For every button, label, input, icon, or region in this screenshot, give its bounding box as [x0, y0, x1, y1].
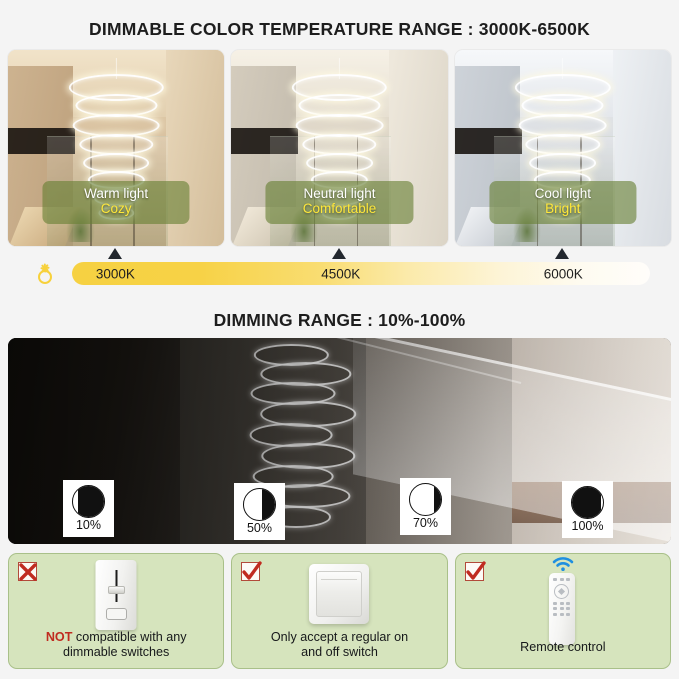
feature-caption: Remote control: [456, 640, 670, 656]
remote-button-row: [549, 613, 575, 616]
scale-tick-3000k: 3000K: [96, 266, 135, 281]
cross-icon: [18, 562, 37, 581]
chandelier-ring: [302, 134, 376, 156]
dimming-badge-100: 100%: [562, 481, 613, 538]
cct-label-secondary: Cozy: [43, 201, 190, 216]
remote-button: [566, 613, 570, 616]
feature-caption-rest: Remote control: [520, 640, 605, 654]
dial-fill: [262, 488, 277, 521]
dimming-badge-label: 70%: [413, 517, 438, 530]
cct-panel-warm: Warm light Cozy: [8, 50, 224, 246]
brightness-dial-icon: [72, 485, 105, 518]
feature-caption-rest: compatible with any: [72, 630, 186, 644]
page-title-dimming-range: DIMMING RANGE : 10%-100%: [0, 310, 679, 331]
remote-button: [553, 578, 557, 581]
cct-label-secondary: Comfortable: [266, 201, 413, 216]
temperature-gradient-bar: 3000K 4500K 6000K: [72, 262, 650, 285]
feature-caption-rest: Only accept a regular on: [271, 630, 408, 644]
infographic-page: DIMMABLE COLOR TEMPERATURE RANGE : 3000K…: [0, 0, 679, 679]
dial-fill: [78, 485, 105, 518]
rocker-switch-pad: [316, 571, 362, 617]
compatibility-cards: NOT compatible with any dimmable switche…: [8, 553, 671, 669]
cct-panel-neutral: Neutral light Comfortable: [231, 50, 447, 246]
check-icon: [465, 562, 484, 581]
dimmer-switch-body: [96, 560, 137, 630]
page-title-color-temperature: DIMMABLE COLOR TEMPERATURE RANGE : 3000K…: [0, 19, 679, 40]
wifi-glyph: [552, 557, 574, 571]
cct-label-neutral: Neutral light Comfortable: [266, 181, 413, 223]
remote-button: [560, 602, 564, 605]
remote-assembly: [549, 557, 577, 645]
cct-label-secondary: Bright: [489, 201, 636, 216]
chandelier-ring: [530, 153, 597, 173]
remote-button: [553, 602, 557, 605]
feature-caption: Only accept a regular on and off switch: [232, 630, 446, 661]
cross-glyph: [18, 561, 39, 583]
dial-fill: [434, 483, 442, 516]
scale-pointer: [555, 248, 569, 259]
feature-caption-line2: dimmable switches: [63, 645, 169, 659]
color-temperature-scale: 3000K 4500K 6000K: [0, 248, 679, 294]
dimming-badge-10: 10%: [63, 480, 114, 537]
rocker-switch-body: [309, 564, 369, 624]
cct-label-cool: Cool light Bright: [489, 181, 636, 223]
remote-button-row: [549, 578, 575, 581]
remote-button: [560, 607, 564, 610]
remote-button: [566, 602, 570, 605]
chandelier-ring: [83, 153, 150, 173]
feature-card-remote-control: Remote control: [455, 553, 671, 669]
color-temperature-panels: Warm light Cozy: [8, 50, 671, 246]
feature-card-regular-switch: Only accept a regular on and off switch: [231, 553, 447, 669]
feature-card-not-dimmable: NOT compatible with any dimmable switche…: [8, 553, 224, 669]
feature-caption: NOT compatible with any dimmable switche…: [9, 630, 223, 661]
remote-button: [566, 607, 570, 610]
dimmer-slider-knob: [108, 586, 125, 594]
cct-label-primary: Cool light: [489, 186, 636, 201]
dimming-badge-label: 50%: [247, 522, 272, 535]
chandelier-ring: [306, 153, 373, 173]
dimming-badge-70: 70%: [400, 478, 451, 535]
scale-pointer: [332, 248, 346, 259]
scale-pointer: [108, 248, 122, 259]
scale-tick-6000k: 6000K: [544, 266, 583, 281]
check-icon: [241, 562, 260, 581]
feature-caption-line2: and off switch: [301, 645, 378, 659]
remote-button-row: [549, 602, 575, 605]
rocker-switch-icon: [309, 564, 369, 624]
remote-button-row: [549, 607, 575, 610]
brightness-dial-icon: [571, 486, 604, 519]
cct-label-primary: Warm light: [43, 186, 190, 201]
dial-fill: [571, 486, 601, 519]
cct-label-warm: Warm light Cozy: [43, 181, 190, 223]
cct-panel-cool: Cool light Bright: [455, 50, 671, 246]
remote-control-icon: [549, 557, 577, 645]
scale-tick-4500k: 4500K: [321, 266, 360, 281]
dimmer-switch-icon: [96, 560, 137, 630]
brightness-dial-icon: [409, 483, 442, 516]
chandelier-ring: [526, 134, 600, 156]
check-glyph: [241, 561, 262, 583]
feature-caption-emphasis: NOT: [46, 630, 73, 644]
remote-button: [560, 613, 564, 616]
remote-button: [560, 578, 564, 581]
cct-label-primary: Neutral light: [266, 186, 413, 201]
remote-body: [549, 573, 575, 645]
brightness-dial-icon: [243, 488, 276, 521]
chandelier-ring: [79, 134, 153, 156]
remote-dpad: [554, 584, 569, 599]
wifi-signal-icon: [552, 557, 574, 571]
sun-icon: [30, 262, 60, 292]
remote-button: [566, 578, 570, 581]
dimming-badge-label: 100%: [572, 520, 604, 533]
dimmer-push-button: [106, 608, 127, 620]
check-glyph: [465, 561, 486, 583]
remote-button: [553, 607, 557, 610]
dimming-badge-50: 50%: [234, 483, 285, 540]
remote-button: [553, 613, 557, 616]
dimming-badge-label: 10%: [76, 519, 101, 532]
